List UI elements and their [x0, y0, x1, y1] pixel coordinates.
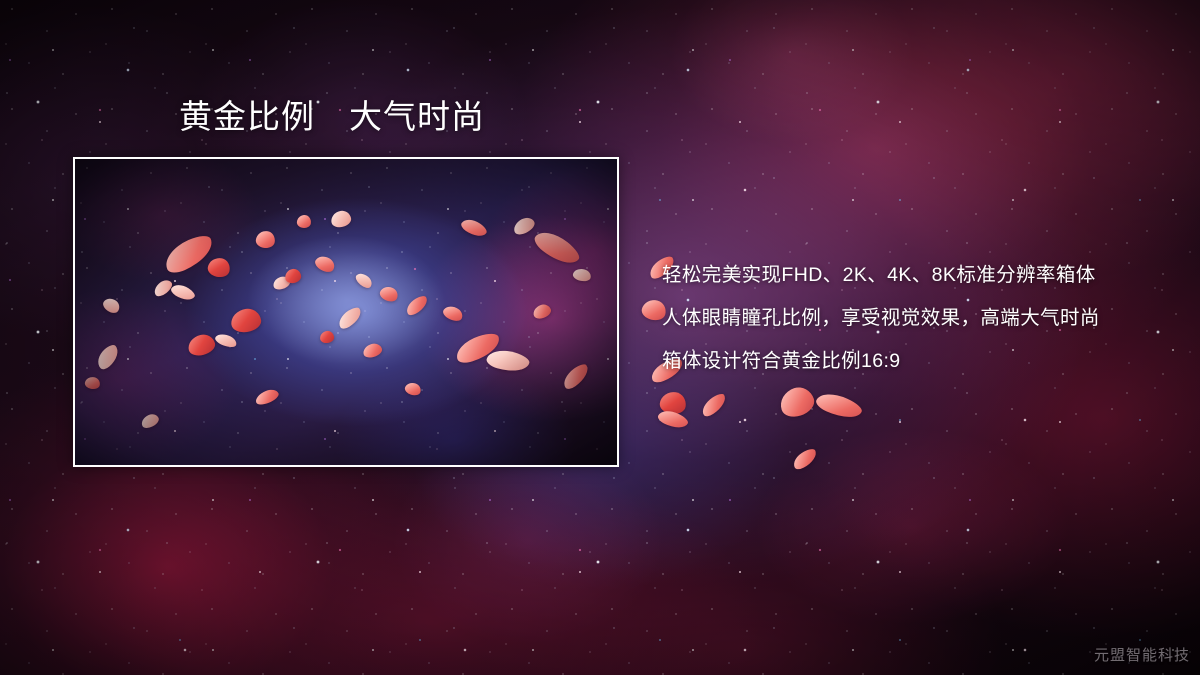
- presentation-slide: 黄金比例 大气时尚: [0, 0, 1200, 675]
- watermark: 元盟智能科技: [1094, 644, 1190, 665]
- petal: [777, 383, 818, 420]
- image-frame: [73, 157, 619, 467]
- body-copy: 轻松完美实现FHD、2K、4K、8K标准分辨率箱体 人体眼睛瞳孔比例，享受视觉效…: [662, 254, 1162, 383]
- frame-vignette: [75, 159, 617, 465]
- framed-galaxy-image: [75, 159, 617, 465]
- body-line: 人体眼睛瞳孔比例，享受视觉效果，高端大气时尚: [662, 297, 1162, 340]
- petal: [790, 447, 820, 472]
- petal: [814, 388, 864, 425]
- body-line: 箱体设计符合黄金比例16:9: [662, 340, 1162, 383]
- page-title: 黄金比例 大气时尚: [179, 100, 485, 133]
- petal: [698, 391, 729, 418]
- body-line: 轻松完美实现FHD、2K、4K、8K标准分辨率箱体: [662, 254, 1162, 297]
